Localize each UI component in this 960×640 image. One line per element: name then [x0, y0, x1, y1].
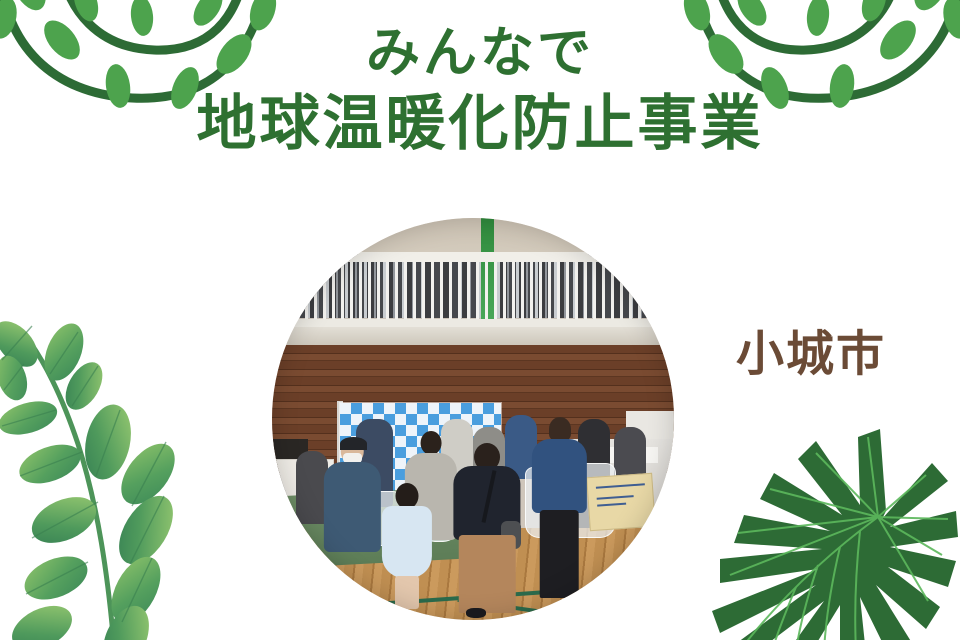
title-line-2: 地球温暖化防止事業 — [0, 94, 960, 154]
page-title: みんなで 地球温暖化防止事業 — [0, 26, 960, 154]
title-line-1: みんなで — [0, 26, 960, 80]
photo-vignette — [272, 218, 674, 620]
watercolor-branch-bottom-left-icon — [0, 316, 236, 640]
event-photo-circle — [272, 218, 674, 620]
monstera-leaf-bottom-right-icon — [690, 419, 960, 640]
poster-canvas: みんなで 地球温暖化防止事業 小城市 — [0, 0, 960, 640]
city-name-label: 小城市 — [736, 331, 886, 379]
event-photo-content — [272, 218, 674, 620]
